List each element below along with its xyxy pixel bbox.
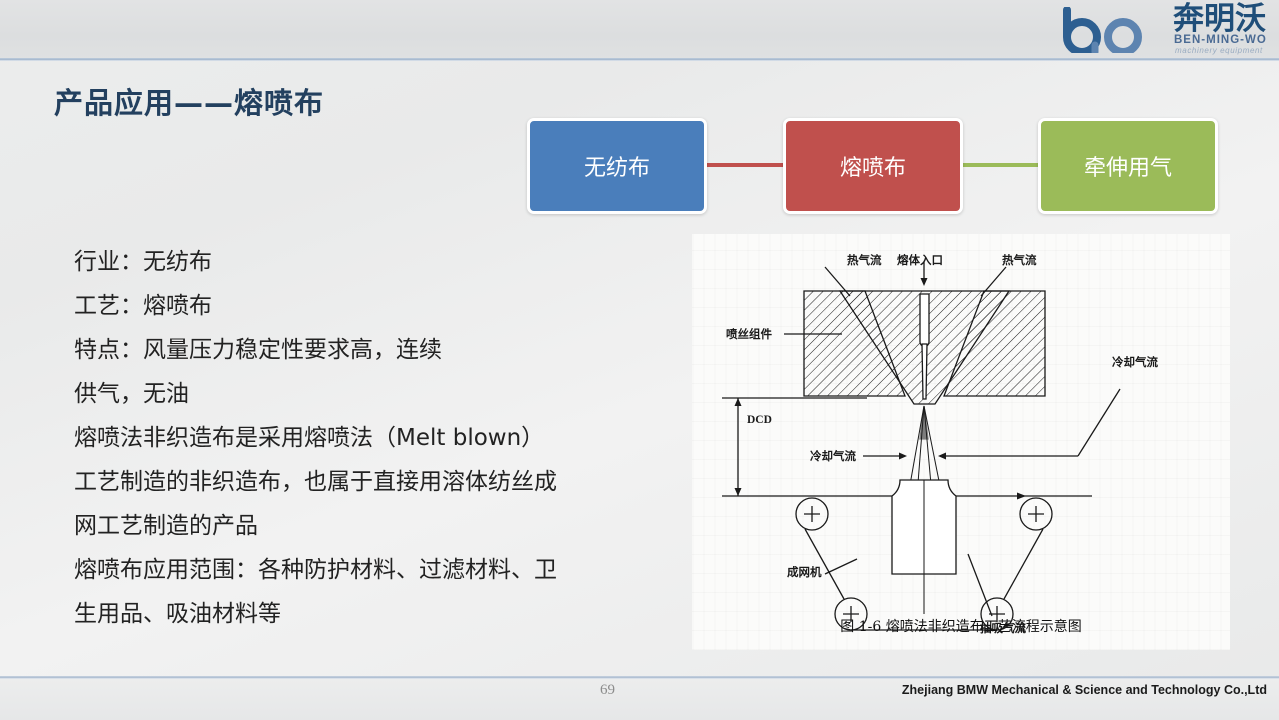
body-line: 工艺：熔喷布	[74, 284, 674, 328]
footer-company-name: Zhejiang BMW Mechanical & Science and Te…	[902, 683, 1267, 697]
meltblown-process-figure: 热气流 熔体入口 热气流 喷丝组件 冷却气流 冷却气流 DCD 成网机 抽吸气流…	[692, 234, 1230, 650]
flow-box-meltblown[interactable]: 熔喷布	[783, 118, 963, 214]
flow-box-drawing-air[interactable]: 牵伸用气	[1038, 118, 1218, 214]
body-line: 工艺制造的非织造布，也属于直接用溶体纺丝成	[74, 460, 674, 504]
body-line: 熔喷法非织造布是采用熔喷法（Melt blown）	[74, 416, 674, 460]
body-line: 生用品、吸油材料等	[74, 592, 674, 636]
flow-connector-1	[707, 163, 785, 167]
figure-label-melt-inlet: 熔体入口	[897, 252, 943, 268]
figure-caption: 图 1-6 熔喷法非织造布工艺流程示意图	[692, 616, 1230, 636]
figure-label-cooling-air-right: 冷却气流	[1112, 354, 1158, 370]
process-flow-diagram: 无纺布 熔喷布 牵伸用气	[0, 0, 1279, 230]
figure-label-hot-air-right: 热气流	[1002, 252, 1037, 268]
meltblown-process-drawing	[692, 234, 1230, 650]
body-line: 特点：风量压力稳定性要求高，连续	[74, 328, 674, 372]
figure-label-web-former: 成网机	[787, 564, 822, 580]
flow-connector-2	[963, 163, 1040, 167]
body-line: 熔喷布应用范围：各种防护材料、过滤材料、卫	[74, 548, 674, 592]
body-line: 网工艺制造的产品	[74, 504, 674, 548]
page-number: 69	[600, 682, 615, 699]
flow-box-nonwoven[interactable]: 无纺布	[527, 118, 707, 214]
body-line: 供气，无油	[74, 372, 674, 416]
body-text-block: 行业：无纺布 工艺：熔喷布 特点：风量压力稳定性要求高，连续 供气，无油 熔喷法…	[74, 240, 674, 636]
figure-label-cooling-air-center: 冷却气流	[810, 448, 856, 464]
body-line: 行业：无纺布	[74, 240, 674, 284]
figure-label-dcd: DCD	[747, 414, 772, 426]
figure-label-spinneret: 喷丝组件	[726, 326, 772, 342]
figure-label-hot-air-left: 热气流	[847, 252, 882, 268]
